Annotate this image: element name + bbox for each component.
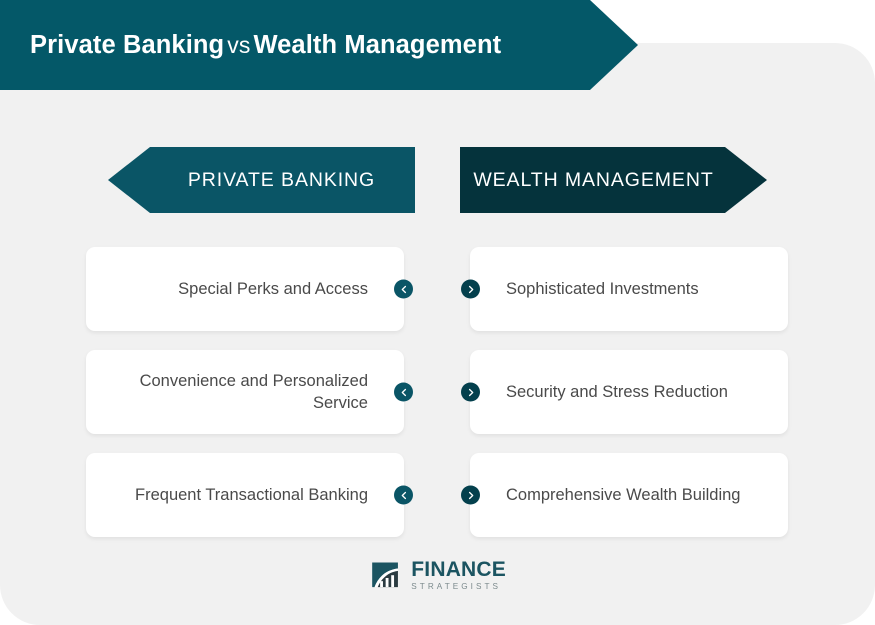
chevron-right-icon	[461, 383, 480, 402]
chevron-left-icon	[394, 383, 413, 402]
list-item[interactable]: Comprehensive Wealth Building	[470, 453, 788, 537]
page-title-vs: vs	[224, 32, 253, 58]
page-title-term-2: Wealth Management	[253, 31, 501, 59]
list-item-label: Comprehensive Wealth Building	[506, 484, 741, 506]
column-wealth-management: Sophisticated Investments Security and S…	[470, 247, 788, 556]
arrow-label-left: PRIVATE BANKING	[188, 169, 375, 192]
arrow-label-right: WEALTH MANAGEMENT	[473, 169, 713, 192]
arrow-header-wealth-management: WEALTH MANAGEMENT	[460, 147, 767, 213]
list-item-label: Frequent Transactional Banking	[135, 484, 368, 506]
chevron-right-icon	[461, 280, 480, 299]
list-item[interactable]: Frequent Transactional Banking	[86, 453, 404, 537]
arrow-header-private-banking: PRIVATE BANKING	[108, 147, 415, 213]
infographic-canvas: Private BankingvsWealth Management PRIVA…	[0, 0, 875, 625]
list-item[interactable]: Sophisticated Investments	[470, 247, 788, 331]
header-banner: Private BankingvsWealth Management	[0, 0, 638, 90]
column-private-banking: Special Perks and Access Convenience and…	[86, 247, 404, 556]
arrow-header-row: PRIVATE BANKING WEALTH MANAGEMENT	[0, 147, 875, 215]
finance-strategists-bar-arc-logo-icon	[371, 557, 404, 595]
chevron-left-icon	[394, 280, 413, 299]
brand-logo-wordmark: FINANCE STRATEGISTS	[411, 559, 506, 593]
list-item[interactable]: Special Perks and Access	[86, 247, 404, 331]
page-title-term-1: Private Banking	[30, 31, 224, 59]
list-item-label: Convenience and Personalized Service	[104, 370, 368, 414]
list-item-label: Special Perks and Access	[178, 278, 368, 300]
chevron-right-icon	[461, 486, 480, 505]
page-title: Private BankingvsWealth Management	[0, 31, 501, 60]
list-item[interactable]: Security and Stress Reduction	[470, 350, 788, 434]
list-item[interactable]: Convenience and Personalized Service	[86, 350, 404, 434]
brand-name-secondary: STRATEGISTS	[411, 581, 506, 593]
brand-name-primary: FINANCE	[411, 559, 506, 580]
brand-logo: FINANCE STRATEGISTS	[371, 556, 506, 596]
list-item-label: Sophisticated Investments	[506, 278, 699, 300]
chevron-left-icon	[394, 486, 413, 505]
list-item-label: Security and Stress Reduction	[506, 381, 728, 403]
